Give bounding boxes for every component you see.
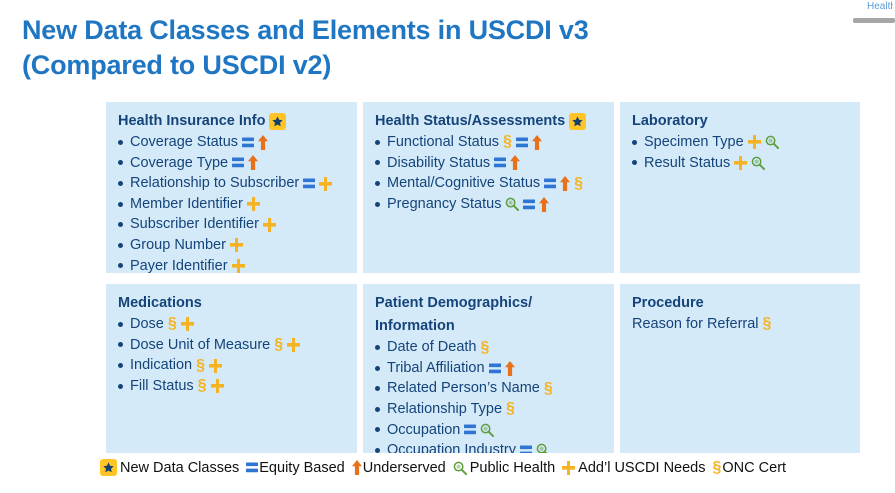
panel-title-patient-demographics-information: Patient Demographics/Information [375,294,602,336]
badge-group [303,177,332,191]
badge-group: § [480,340,489,356]
legend-entry-mag: Public Health [453,460,555,476]
additional-needs-plus-icon [209,359,222,373]
bullet-icon [118,384,123,389]
bullet-icon [375,386,380,391]
equity-based-icon [464,423,476,436]
public-health-magnifier-icon [505,197,519,211]
badge-group: § [168,316,194,332]
list-item-label: Fill Status [130,376,194,397]
badge-group [569,113,586,130]
star-icon [569,113,586,130]
list-item-label: Tribal Affiliation [387,358,485,379]
page-title-line-2: (Compared to USCDI v2) [22,48,722,83]
list-item-label: Date of Death [387,337,476,358]
panel-health-status-assessments: Health Status/AssessmentsFunctional Stat… [363,102,614,273]
panel-procedure: ProcedureReason for Referral§ [620,284,860,453]
equity-based-icon [303,177,315,190]
underserved-arrow-icon [539,197,549,212]
bullet-icon [118,222,123,227]
list-item: Reason for Referral§ [632,314,848,335]
list-item-label: Dose Unit of Measure [130,335,270,356]
item-list-medications: Dose§Dose Unit of Measure§Indication§Fil… [118,314,345,396]
bullet-icon [118,263,123,268]
partial-header-text: Health [867,1,893,12]
bullet-icon [118,202,123,207]
onc-cert-section-icon: § [503,134,512,150]
additional-needs-plus-icon [748,135,761,149]
public-health-magnifier-icon [751,156,765,170]
additional-needs-plus-icon [734,156,747,170]
list-item-label: Relationship to Subscriber [130,173,299,194]
list-item: Result Status [632,153,848,174]
public-health-magnifier-icon [765,135,779,149]
equity-based-icon [523,198,535,211]
bullet-icon [375,202,380,207]
list-item: Specimen Type [632,132,848,153]
list-item-label: Occupation [387,420,460,441]
page-title-line-1: New Data Classes and Elements in USCDI v… [22,13,722,48]
equity-based-icon [516,136,528,149]
list-item-label: Group Number [130,235,226,256]
legend-entry-section: §ONC Cert [713,460,787,476]
panel-title-line: Patient Demographics/ [375,294,532,313]
additional-needs-plus-icon [232,259,245,273]
underserved-arrow-icon [248,155,258,170]
onc-cert-section-icon: § [506,401,515,417]
panel-title-line: Medications [118,294,202,313]
onc-cert-section-icon: § [198,378,207,394]
underserved-arrow-icon [505,361,515,376]
list-item: Tribal Affiliation [375,358,602,379]
list-item-label: Related Person’s Name [387,378,540,399]
legend-label: Equity Based [259,460,344,476]
panel-title-medications: Medications [118,294,345,313]
underserved-arrow-icon [258,135,268,150]
legend-entry-star: New Data Classes [100,459,239,476]
list-item-label: Indication [130,355,192,376]
bullet-icon [632,140,637,145]
badge-group [269,113,286,130]
panel-title-laboratory: Laboratory [632,112,848,131]
equity-based-icon [520,444,532,453]
bullet-icon [375,140,380,145]
list-item: Disability Status [375,153,602,174]
underserved-arrow-icon [352,460,362,475]
legend-label: Underserved [363,460,446,476]
badge-group [520,443,550,453]
panel-title-health-insurance-info: Health Insurance Info [118,112,345,131]
bullet-icon [118,363,123,368]
underserved-arrow-icon [510,155,520,170]
list-item-label: Relationship Type [387,399,502,420]
list-item: Subscriber Identifier [118,214,345,235]
list-item: Dose§ [118,314,345,335]
equity-based-icon [489,362,501,375]
legend-label: Public Health [470,460,555,476]
list-item: Coverage Type [118,153,345,174]
list-item-label: Mental/Cognitive Status [387,173,540,194]
data-class-grid: Health Insurance InfoCoverage StatusCove… [106,102,860,453]
additional-needs-plus-icon [319,177,332,191]
onc-cert-section-icon: § [168,316,177,332]
list-item-label: Payer Identifier [130,256,228,273]
list-item: Fill Status§ [118,376,345,397]
badge-group [505,197,549,212]
panel-title-line: Health Status/Assessments [375,112,565,131]
list-item-label: Functional Status [387,132,499,153]
public-health-magnifier-icon [480,423,494,437]
badge-group [247,197,260,211]
item-list-patient-demographics-information: Date of Death§Tribal AffiliationRelated … [375,337,602,453]
badge-group: § [544,381,553,397]
item-list-health-status-assessments: Functional Status§Disability StatusMenta… [375,132,602,214]
list-item-label: Reason for Referral [632,314,759,335]
legend-label: Add’l USCDI Needs [578,460,705,476]
panel-title-line: Information [375,317,455,336]
bullet-icon [118,140,123,145]
list-item: Mental/Cognitive Status§ [375,173,602,194]
list-item-label: Coverage Type [130,153,228,174]
additional-needs-plus-icon [211,379,224,393]
list-item: Dose Unit of Measure§ [118,335,345,356]
bullet-icon [375,407,380,412]
additional-needs-plus-icon [181,317,194,331]
list-item-label: Occupation Industry [387,440,516,453]
panel-laboratory: LaboratorySpecimen TypeResult Status [620,102,860,273]
public-health-magnifier-icon [453,461,467,475]
equity-based-icon [544,177,556,190]
bullet-icon [118,181,123,186]
equity-based-icon [242,136,254,149]
legend: New Data ClassesEquity BasedUnderservedP… [100,459,793,476]
list-item-label: Pregnancy Status [387,194,501,215]
list-item: Indication§ [118,355,345,376]
bullet-icon [118,160,123,165]
badge-group [232,155,258,170]
bullet-icon [632,160,637,165]
gray-divider-bar [853,18,895,23]
equity-based-icon [232,156,244,169]
top-right-fragment: Health [835,0,895,30]
badge-group: § [274,337,300,353]
panel-medications: MedicationsDose§Dose Unit of Measure§Ind… [106,284,357,453]
equity-based-icon [246,461,258,474]
panel-title-procedure: Procedure [632,294,848,313]
list-item: Group Number [118,235,345,256]
list-item: Occupation [375,420,602,441]
additional-needs-plus-icon [263,218,276,232]
item-list-health-insurance-info: Coverage StatusCoverage TypeRelationship… [118,132,345,273]
onc-cert-section-icon: § [274,337,283,353]
additional-needs-plus-icon [230,238,243,252]
list-item: Member Identifier [118,194,345,215]
badge-group [494,155,520,170]
page-title: New Data Classes and Elements in USCDI v… [22,13,722,82]
legend-entry-arrow: Underserved [352,460,446,476]
list-item-label: Specimen Type [644,132,744,153]
additional-needs-plus-icon [247,197,260,211]
badge-group: § [503,134,542,150]
badge-group [734,156,765,170]
onc-cert-section-icon: § [763,316,772,332]
onc-cert-section-icon: § [480,340,489,356]
badge-group [232,259,245,273]
star-icon [269,113,286,130]
star-icon [100,459,117,476]
panel-title-line: Laboratory [632,112,708,131]
additional-needs-plus-icon [287,338,300,352]
onc-cert-section-icon: § [544,381,553,397]
bullet-icon [375,427,380,432]
badge-group [748,135,779,149]
list-item: Occupation Industry [375,440,602,453]
bullet-icon [118,322,123,327]
legend-label: ONC Cert [722,460,786,476]
list-item-label: Dose [130,314,164,335]
panel-title-line: Procedure [632,294,704,313]
badge-group [489,361,515,376]
list-item: Relationship to Subscriber [118,173,345,194]
badge-group [230,238,243,252]
onc-cert-section-icon: § [574,176,583,192]
badge-group [464,423,494,437]
bullet-icon [118,342,123,347]
underserved-arrow-icon [532,135,542,150]
bullet-icon [375,181,380,186]
list-item: Functional Status§ [375,132,602,153]
list-item-label: Coverage Status [130,132,238,153]
list-item: Related Person’s Name§ [375,378,602,399]
list-item-label: Result Status [644,153,730,174]
list-item: Pregnancy Status [375,194,602,215]
onc-cert-section-icon: § [196,358,205,374]
list-item: Relationship Type§ [375,399,602,420]
legend-entry-plus: Add’l USCDI Needs [562,460,705,476]
bullet-icon [375,160,380,165]
panel-patient-demographics-information: Patient Demographics/InformationDate of … [363,284,614,453]
item-list-laboratory: Specimen TypeResult Status [632,132,848,173]
legend-label: New Data Classes [120,460,239,476]
list-item-label: Member Identifier [130,194,243,215]
additional-needs-plus-icon [562,461,575,475]
legend-entry-equity: Equity Based [246,460,344,476]
list-item-label: Disability Status [387,153,490,174]
public-health-magnifier-icon [536,443,550,453]
list-item: Coverage Status [118,132,345,153]
bullet-icon [375,345,380,350]
panel-health-insurance-info: Health Insurance InfoCoverage StatusCove… [106,102,357,273]
list-item: Date of Death§ [375,337,602,358]
bullet-icon [375,448,380,453]
panel-title-health-status-assessments: Health Status/Assessments [375,112,602,131]
badge-group [263,218,276,232]
list-item: Payer Identifier [118,256,345,273]
panel-title-line: Health Insurance Info [118,112,265,131]
badge-group: § [196,358,222,374]
badge-group [242,135,268,150]
equity-based-icon [494,156,506,169]
onc-cert-section-icon: § [713,460,722,476]
badge-group: § [763,316,772,332]
badge-group: § [506,401,515,417]
bullet-icon [118,243,123,248]
bullet-icon [375,366,380,371]
underserved-arrow-icon [560,176,570,191]
badge-group: § [544,176,583,192]
list-item-label: Subscriber Identifier [130,214,259,235]
badge-group: § [198,378,224,394]
